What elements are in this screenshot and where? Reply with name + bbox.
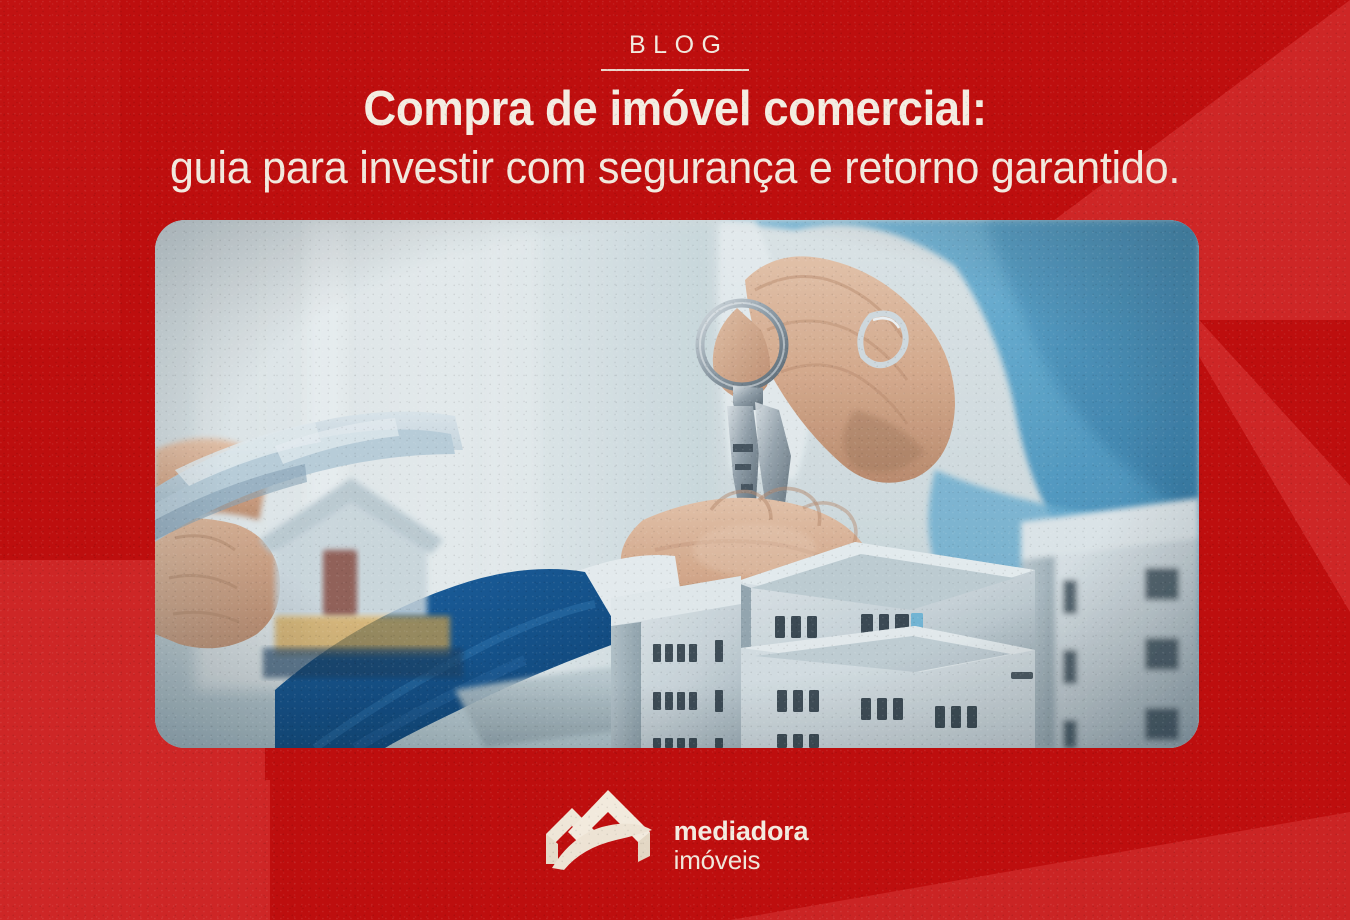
hero-photo-illustration [155, 220, 1199, 748]
house-roof-icon-svg [542, 778, 660, 870]
page-title: Compra de imóvel comercial: [47, 84, 1303, 135]
house-roof-logo-icon [542, 778, 660, 870]
blog-banner: BLOG Compra de imóvel comercial: guia pa… [0, 0, 1350, 920]
logo-wordmark: mediadora imóveis [674, 778, 809, 874]
page-subtitle: guia para investir com segurança e retor… [27, 143, 1323, 193]
kicker-underline [601, 69, 749, 71]
brand-logo[interactable]: mediadora imóveis [0, 778, 1350, 874]
logo-name: mediadora [674, 818, 809, 846]
hero-photo [155, 220, 1199, 748]
logo-subname: imóveis [674, 846, 809, 874]
kicker-label: BLOG [622, 33, 729, 58]
kicker-block: BLOG [0, 33, 1350, 71]
